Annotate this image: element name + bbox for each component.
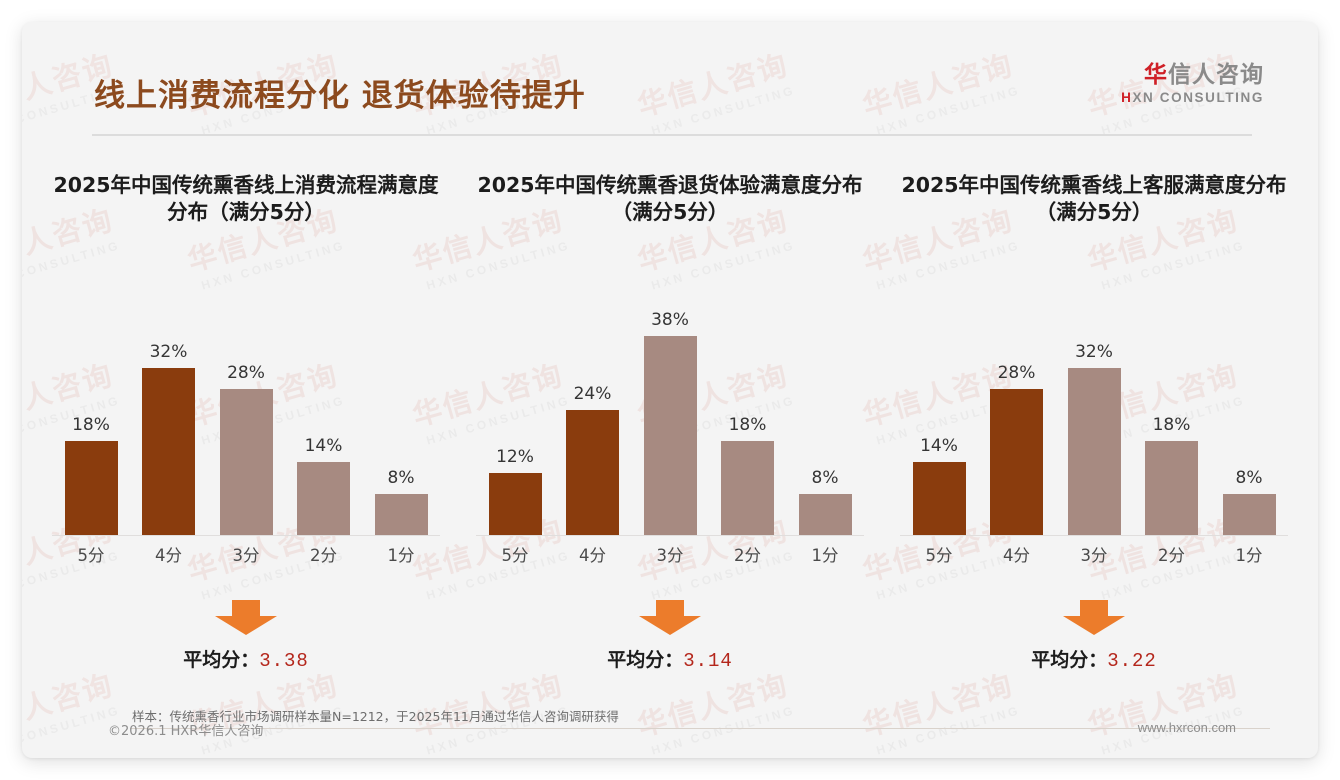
arrow-head [639,616,701,635]
x-tick-label: 5分 [62,542,120,572]
logo-en-accent: H [1121,90,1132,105]
x-tick-label: 1分 [1220,542,1278,572]
average-label-2: 平均分： [607,649,683,671]
x-tick-label: 5分 [486,542,544,572]
bar [1223,494,1276,536]
chart-panel-3: 2025年中国传统熏香线上客服满意度分布（满分5分） 14%28%32%18%8… [882,172,1306,672]
slide-header: 线上消费流程分化 退货体验待提升 华信人咨询 HXN CONSULTING [22,22,1318,122]
chart-panel-2: 2025年中国传统熏香退货体验满意度分布（满分5分） 12%24%38%18%8… [458,172,882,672]
bar [375,494,428,536]
bar [1145,441,1198,536]
bar-slot: 32% [140,300,198,536]
bar-value-label: 28% [227,363,265,383]
bar-value-label: 8% [388,468,415,488]
bar-value-label: 12% [496,447,534,467]
charts-row: 2025年中国传统熏香线上消费流程满意度分布（满分5分） 18%32%28%14… [34,172,1306,672]
bar-value-label: 28% [998,363,1036,383]
bar-value-label: 8% [812,468,839,488]
x-tick-label: 4分 [988,542,1046,572]
bar-slot: 8% [372,300,430,536]
bar [297,462,350,536]
bar-slot: 28% [217,300,275,536]
header-divider [92,134,1252,136]
average-score-2: 平均分：3.14 [607,645,733,672]
average-label-3: 平均分： [1031,649,1107,671]
logo-en-rest: XN CONSULTING [1132,90,1264,105]
down-arrow-icon [639,600,701,634]
copyright-text: ©2026.1 HXR华信人咨询 [108,720,263,739]
bar-value-label: 14% [920,436,958,456]
average-value-3: 3.22 [1107,650,1157,672]
bar-slot: 18% [719,300,777,536]
arrow-wrap-2 [458,600,882,635]
axis-baseline-3 [900,535,1288,536]
arrow-shaft [656,600,684,617]
bar [721,441,774,536]
bar-chart-2: 12%24%38%18%8% 5分4分3分2分1分 [472,287,868,572]
bar-slot: 24% [564,300,622,536]
bar-value-label: 32% [1075,342,1113,362]
bar-value-label: 32% [150,342,188,362]
x-axis-ticks-3: 5分4分3分2分1分 [896,542,1292,572]
x-tick-label: 3分 [217,542,275,572]
bar [220,389,273,536]
logo-accent-char: 华 [1144,62,1168,88]
x-tick-label: 2分 [719,542,777,572]
x-tick-label: 4分 [140,542,198,572]
average-value-1: 3.38 [259,650,309,672]
bar-slot: 18% [62,300,120,536]
bar-chart-3: 14%28%32%18%8% 5分4分3分2分1分 [896,287,1292,572]
x-axis-ticks-1: 5分4分3分2分1分 [48,542,444,572]
bar-value-label: 24% [574,384,612,404]
average-label-1: 平均分： [183,649,259,671]
bar [1068,368,1121,536]
x-tick-label: 5分 [910,542,968,572]
average-value-2: 3.14 [683,650,733,672]
chart-panel-1: 2025年中国传统熏香线上消费流程满意度分布（满分5分） 18%32%28%14… [34,172,458,672]
chart-title-1: 2025年中国传统熏香线上消费流程满意度分布（满分5分） [46,172,446,227]
bars-container-3: 14%28%32%18%8% [896,300,1292,536]
x-axis-ticks-2: 5分4分3分2分1分 [472,542,868,572]
logo-chinese: 华信人咨询 [1121,62,1264,88]
slide-canvas: 华信人咨询HXN CONSULTING华信人咨询HXN CONSULTING华信… [22,22,1318,758]
arrow-shaft [1080,600,1108,617]
x-tick-label: 4分 [564,542,622,572]
average-score-3: 平均分：3.22 [1031,645,1157,672]
x-tick-label: 1分 [372,542,430,572]
average-score-1: 平均分：3.38 [183,645,309,672]
down-arrow-icon [1063,600,1125,634]
website-url: www.hxrcon.com [1138,720,1236,735]
bar [142,368,195,536]
axis-baseline-2 [476,535,864,536]
company-logo: 华信人咨询 HXN CONSULTING [1121,62,1264,105]
bar [644,336,697,536]
x-tick-label: 2分 [1143,542,1201,572]
bar-value-label: 18% [1153,415,1191,435]
bar-value-label: 38% [651,310,689,330]
bars-container-1: 18%32%28%14%8% [48,300,444,536]
chart-title-3: 2025年中国传统熏香线上客服满意度分布（满分5分） [894,172,1294,227]
bar [65,441,118,536]
bar [489,473,542,536]
bar-slot: 38% [641,300,699,536]
x-tick-label: 3分 [641,542,699,572]
logo-chinese-rest: 信人咨询 [1168,62,1264,88]
bar-slot: 14% [910,300,968,536]
bar [799,494,852,536]
arrow-wrap-3 [882,600,1306,635]
bar-value-label: 8% [1236,468,1263,488]
axis-baseline-1 [52,535,440,536]
bar-slot: 32% [1065,300,1123,536]
bar-slot: 8% [1220,300,1278,536]
chart-title-2: 2025年中国传统熏香退货体验满意度分布（满分5分） [470,172,870,227]
x-tick-label: 2分 [295,542,353,572]
page-title: 线上消费流程分化 退货体验待提升 [94,70,586,115]
down-arrow-icon [215,600,277,634]
logo-english: HXN CONSULTING [1121,90,1264,105]
x-tick-label: 1分 [796,542,854,572]
bar [990,389,1043,536]
slide-footer: ©2026.1 HXR华信人咨询 www.hxrcon.com [22,720,1318,746]
bar-value-label: 18% [729,415,767,435]
bar-slot: 8% [796,300,854,536]
bar-value-label: 14% [305,436,343,456]
bar-slot: 18% [1143,300,1201,536]
bar [913,462,966,536]
bar-value-label: 18% [72,415,110,435]
bars-container-2: 12%24%38%18%8% [472,300,868,536]
bar-slot: 12% [486,300,544,536]
arrow-wrap-1 [34,600,458,635]
bar-slot: 28% [988,300,1046,536]
arrow-head [215,616,277,635]
x-tick-label: 3分 [1065,542,1123,572]
arrow-head [1063,616,1125,635]
bar-chart-1: 18%32%28%14%8% 5分4分3分2分1分 [48,287,444,572]
bar-slot: 14% [295,300,353,536]
arrow-shaft [232,600,260,617]
bar [566,410,619,536]
